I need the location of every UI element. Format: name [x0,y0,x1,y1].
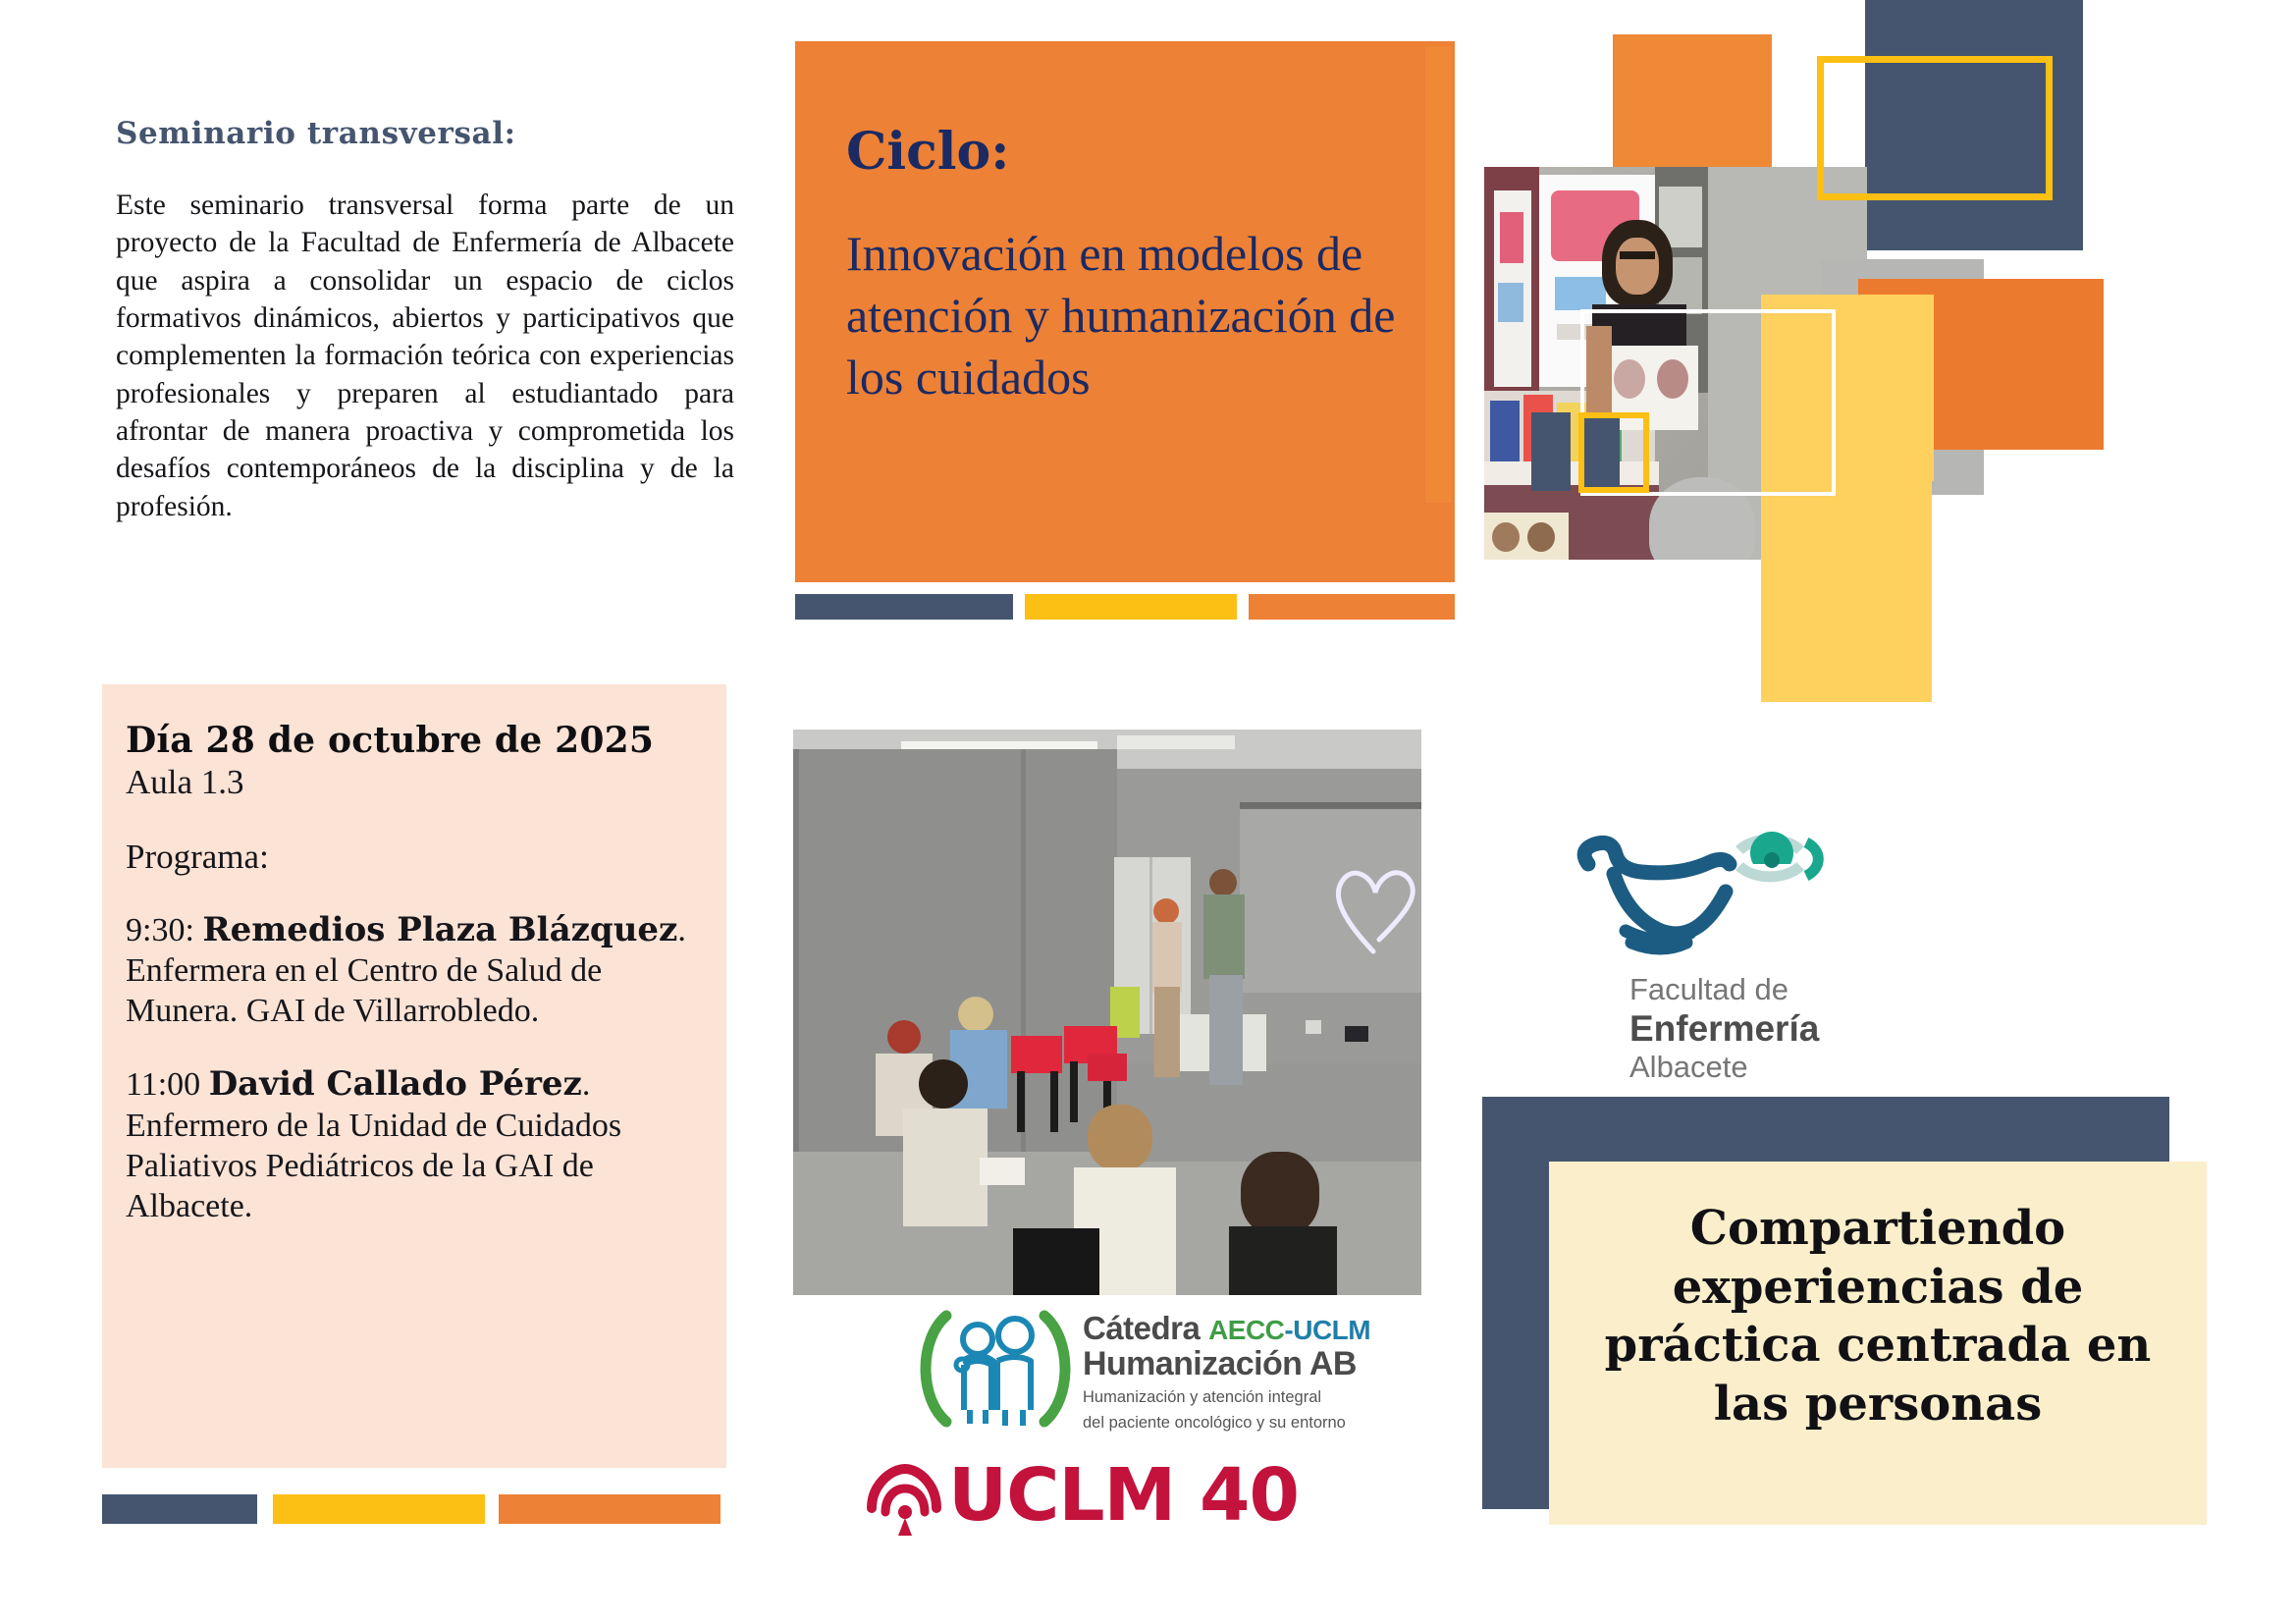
heart-icon [1328,857,1421,955]
catedra-line-1: Cátedra AECC-UCLM [1083,1312,1370,1346]
enfermeria-lamp-icon [1571,825,1865,972]
catedra-wordmark: Cátedra AECC-UCLM Humanización AB Humani… [1083,1312,1370,1435]
title-card: Ciclo: Innovación en modelos de atención… [795,41,1455,582]
title-main: Innovación en modelos de atención y huma… [846,223,1429,408]
enfermeria-line-3: Albacete [1629,1050,1819,1086]
title-stripe-orange [1249,594,1455,620]
catedra-tagline-1: Humanización y atención integral [1083,1387,1370,1408]
stripe-gap [485,1494,499,1524]
left-stripe-orange [499,1494,721,1524]
bottom-left-stripe-bar [102,1494,775,1524]
title-kicker: Ciclo: [846,122,1009,182]
catedra-tagline-2: del paciente oncológico y su entorno [1083,1413,1370,1434]
catedra-word: Cátedra [1083,1310,1208,1346]
slot-speaker: David Callado Pérez [209,1064,582,1104]
event-room: Aula 1.3 [126,763,703,802]
decor-orange-strip [1425,46,1452,503]
title-stripe-navy [795,594,1013,620]
stripe-gap [1013,594,1025,620]
slot-speaker: Remedios Plaza Blázquez [202,910,677,949]
slot-time: 9:30: [126,912,202,948]
catedra-line-2: Humanización AB [1083,1346,1370,1382]
uclm-word: UCLM [1293,1315,1370,1345]
decor-yellow-outline-top [1817,56,2053,200]
title-stripe-bar [795,594,1455,620]
classroom-photo [793,730,1421,1295]
catedra-logo: Cátedra AECC-UCLM Humanización AB Humani… [913,1306,1315,1434]
decor-navy-bar-a [1531,412,1571,491]
enfermeria-wordmark: Facultad de Enfermería Albacete [1629,972,1819,1086]
catedra-family-icon [913,1306,1078,1432]
decor-gold-rect-lower [1761,466,1932,702]
uclm-signal-icon [864,1463,942,1538]
program-slot: 11:00 David Callado Pérez. Enfermero de … [126,1064,703,1226]
catedra-dash: - [1284,1315,1293,1345]
stripe-gap [257,1494,273,1524]
enfermeria-logo: Facultad de Enfermería Albacete [1571,825,1885,1090]
slot-time: 11:00 [126,1066,209,1103]
program-label: Programa: [126,838,703,877]
stripe-gap [1237,594,1249,620]
program-content: Día 28 de octubre de 2025 Aula 1.3 Progr… [126,720,703,1260]
enfermeria-line-1: Facultad de [1629,972,1819,1008]
program-card: Día 28 de octubre de 2025 Aula 1.3 Progr… [102,684,726,1468]
page-title: Seminario transversal: [116,116,734,151]
tagline-text: Compartiendo experiencias de práctica ce… [1571,1200,2185,1434]
title-stripe-yellow [1025,594,1237,620]
uclm-wordmark: UCLM 40 [948,1459,1299,1532]
left-stripe-yellow [273,1494,485,1524]
left-stripe-navy [102,1494,257,1524]
program-slot: 9:30: Remedios Plaza Blázquez. Enfermera… [126,910,703,1031]
aecc-word: AECC [1208,1315,1284,1345]
enfermeria-line-2: Enfermería [1629,1008,1819,1051]
intro-paragraph: Este seminario transversal forma parte d… [116,187,734,525]
event-date: Día 28 de octubre de 2025 [126,720,703,761]
decor-yellow-outline-small [1578,412,1649,493]
uclm-logo: UCLM 40 [864,1463,1315,1540]
intro-column: Seminario transversal: Este seminario tr… [116,116,734,525]
poster-canvas: Seminario transversal: Este seminario tr… [0,0,2296,1624]
